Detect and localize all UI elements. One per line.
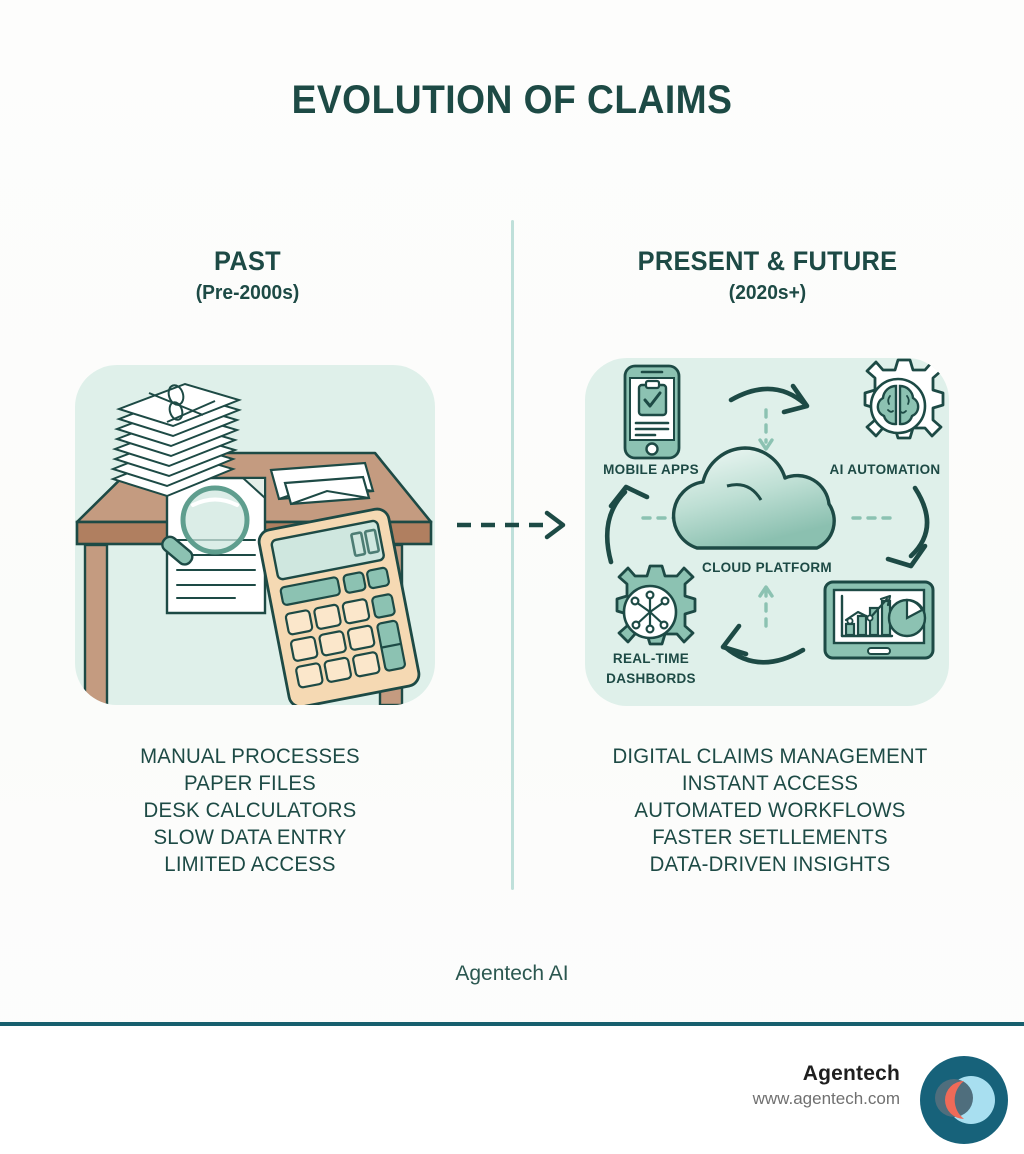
desk-scene-svg	[75, 365, 435, 705]
list-item: AUTOMATED WORKFLOWS	[576, 797, 964, 824]
list-item: DESK CALCULATORS	[61, 797, 439, 824]
footer-brand-name: Agentech	[753, 1062, 900, 1086]
list-item: INSTANT ACCESS	[576, 770, 964, 797]
past-heading: PAST	[104, 246, 391, 277]
analytics-monitor-icon	[825, 582, 933, 658]
footer-url[interactable]: www.agentech.com	[753, 1089, 900, 1109]
mobile-apps-icon	[625, 366, 679, 458]
signature-text: Agentech AI	[0, 962, 1024, 986]
infographic-canvas: EVOLUTION OF CLAIMS PAST (Pre-2000s) PRE…	[0, 0, 1024, 1154]
transition-arrow-icon	[455, 508, 575, 542]
pie-chart-glyph	[889, 600, 925, 636]
future-bullet-list: DIGITAL CLAIMS MANAGEMENT INSTANT ACCESS…	[576, 743, 964, 878]
list-item: FASTER SETLLEMENTS	[576, 824, 964, 851]
page-title: EVOLUTION OF CLAIMS	[36, 78, 988, 123]
future-column-header: PRESENT & FUTURE (2020s+)	[590, 246, 945, 305]
list-item: DATA-DRIVEN INSIGHTS	[576, 851, 964, 878]
past-subheading: (Pre-2000s)	[101, 282, 394, 305]
ai-automation-icon	[865, 360, 943, 438]
agentech-venn-logo[interactable]	[918, 1054, 1010, 1146]
cloud-platform-label: CLOUD PLATFORM	[702, 560, 832, 575]
future-heading: PRESENT & FUTURE	[601, 246, 935, 277]
past-bullet-list: MANUAL PROCESSES PAPER FILES DESK CALCUL…	[61, 743, 439, 878]
ai-automation-label: AI AUTOMATION	[830, 462, 941, 477]
list-item: DIGITAL CLAIMS MANAGEMENT	[576, 743, 964, 770]
dashboards-label-line1: REAL-TIME	[613, 651, 689, 666]
real-time-dashboards-icon	[617, 566, 695, 644]
dashboards-label-line2: DASHBORDS	[606, 671, 696, 686]
list-item: PAPER FILES	[61, 770, 439, 797]
list-item: SLOW DATA ENTRY	[61, 824, 439, 851]
future-subheading: (2020s+)	[597, 282, 938, 305]
envelopes	[271, 463, 373, 504]
cloud-ecosystem-svg: CLOUD PLATFORM MOBILE APPS	[585, 358, 949, 706]
cloud-ecosystem-diagram: CLOUD PLATFORM MOBILE APPS	[585, 358, 949, 706]
list-item: MANUAL PROCESSES	[61, 743, 439, 770]
footer-separator	[0, 1022, 1024, 1026]
footer-brand-block: Agentech www.agentech.com	[753, 1062, 900, 1109]
desk-with-paper-files-illustration	[75, 365, 435, 705]
mobile-apps-label: MOBILE APPS	[603, 462, 699, 477]
column-divider	[511, 220, 514, 890]
past-column-header: PAST (Pre-2000s)	[95, 246, 400, 305]
list-item: LIMITED ACCESS	[61, 851, 439, 878]
